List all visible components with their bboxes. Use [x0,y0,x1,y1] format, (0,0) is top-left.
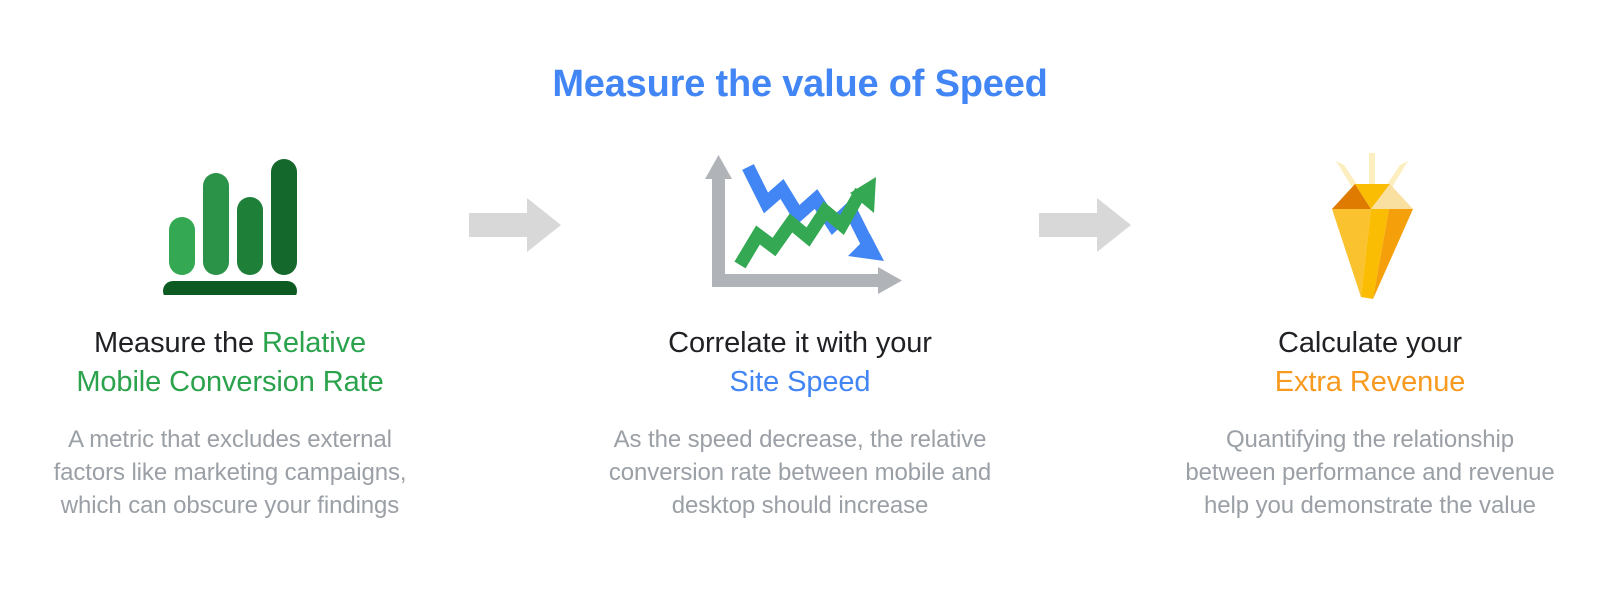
step-heading-3-plain: Calculate your [1278,327,1462,359]
step-heading-1-highlight-inline: Relative [262,327,366,359]
desc-line: factors like marketing campaigns, [54,459,407,486]
desc-line: conversion rate between mobile and [609,459,991,486]
desc-line: help you demonstrate the value [1204,492,1536,519]
step-description-3: Quantifying the relationship between per… [1185,423,1554,522]
desc-line: between performance and revenue [1185,459,1554,486]
arrow-right-icon [469,198,561,252]
step-heading-1-plain: Measure the [94,327,262,359]
crossing-trend-lines-icon [698,150,903,300]
desc-line: As the speed decrease, the relative [614,426,987,453]
step-heading-2-plain: Correlate it with your [668,327,932,359]
connector-arrow-1 [460,150,570,300]
step-heading-3-highlight-line2: Extra Revenue [1275,366,1466,398]
step-heading-3: Calculate your Extra Revenue [1275,324,1466,402]
step-heading-2: Correlate it with your Site Speed [668,324,932,402]
page-title: Measure the value of Speed [0,64,1600,106]
step-card-3: Calculate your Extra Revenue Quantifying… [1140,150,1600,522]
desc-line: desktop should increase [672,492,929,519]
desc-line: which can obscure your findings [61,492,399,519]
step-card-2: Correlate it with your Site Speed As the… [570,150,1030,522]
step-heading-1-highlight-line2: Mobile Conversion Rate [76,366,383,398]
step-heading-1: Measure the Relative Mobile Conversion R… [76,324,383,402]
step-heading-2-highlight-line2: Site Speed [730,366,871,398]
diamond-gem-icon [1295,150,1445,300]
step-description-2: As the speed decrease, the relative conv… [609,423,991,522]
step-description-1: A metric that excludes external factors … [54,423,407,522]
bar-chart-icon [155,150,305,300]
arrow-right-icon [1039,198,1131,252]
step-card-1: Measure the Relative Mobile Conversion R… [0,150,460,522]
infographic-page: Measure the value of Speed Measure the R… [0,0,1600,612]
steps-row: Measure the Relative Mobile Conversion R… [0,150,1600,522]
desc-line: A metric that excludes external [68,426,392,453]
connector-arrow-2 [1030,150,1140,300]
desc-line: Quantifying the relationship [1226,426,1514,453]
